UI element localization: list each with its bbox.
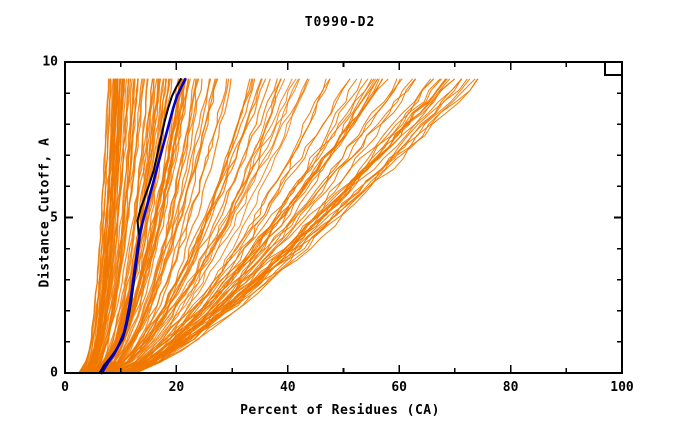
plot-root: T0990-D2 Percent of Residues (CA) Distan… [0,0,680,440]
y-tick-label: 10 [28,55,58,70]
x-tick-label: 40 [280,380,296,395]
y-tick-label: 0 [28,366,58,381]
x-tick-label: 80 [503,380,519,395]
chart-area [0,0,680,440]
x-axis-title: Percent of Residues (CA) [0,403,680,418]
x-tick-label: 60 [391,380,407,395]
y-tick-label: 5 [28,210,58,225]
x-tick-label: 100 [610,380,633,395]
chart-canvas [0,0,680,440]
x-tick-label: 0 [61,380,69,395]
x-tick-label: 20 [169,380,185,395]
